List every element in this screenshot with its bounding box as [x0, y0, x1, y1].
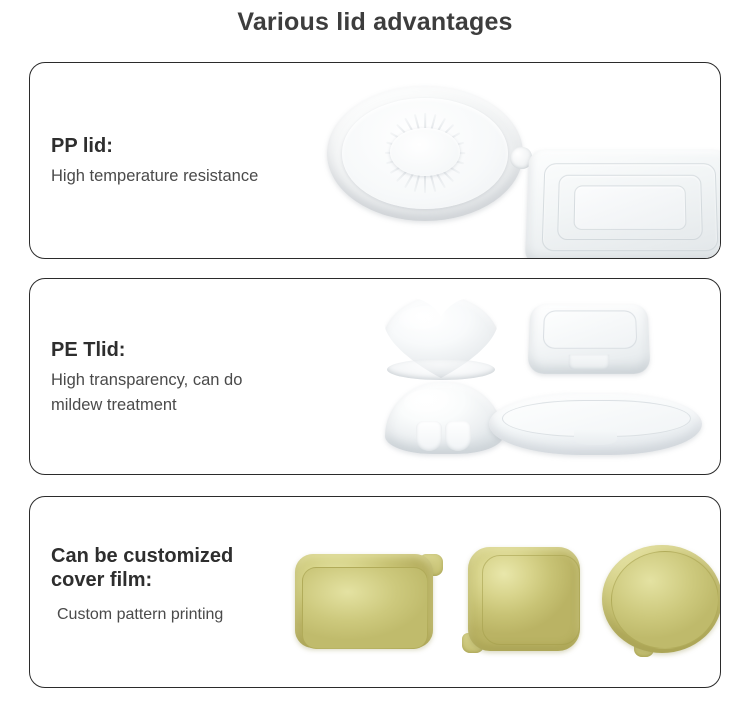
lid-notch	[568, 354, 610, 370]
gold-rectangular-foil-cover-image	[295, 548, 443, 648]
round-ribbed-pp-lid-image	[327, 86, 523, 221]
cover-film-text-block: Can be customized cover film: Custom pat…	[51, 545, 233, 628]
pp-lid-description: High temperature resistance	[51, 164, 258, 190]
pp-lid-text-block: PP lid: High temperature resistance	[51, 135, 258, 189]
lid-notch	[574, 430, 617, 445]
page-title: Various lid advantages	[0, 8, 750, 37]
pe-lid-title: PE Tlid:	[51, 339, 242, 363]
pe-lid-text-block: PE Tlid: High transparency, can do milde…	[51, 339, 242, 419]
oval-flat-pe-lid-image	[489, 393, 702, 455]
lid-top-face	[543, 311, 637, 349]
square-dome-pe-lid-image	[529, 302, 649, 374]
round-dome-pe-lid-image	[385, 382, 503, 454]
lid-highlight	[399, 306, 453, 334]
rectangular-pp-lid-image	[527, 148, 721, 259]
lid-body	[527, 304, 650, 374]
foil-inner-panel	[302, 567, 428, 649]
lid-lip	[387, 359, 496, 380]
lid-highlight	[404, 389, 456, 416]
pp-lid-title: PP lid:	[51, 135, 258, 159]
foil-inner-panel	[611, 551, 719, 649]
panel-pp-lid: PP lid: High temperature resistance	[29, 62, 721, 259]
lid-body	[525, 150, 721, 259]
heart-shaped-pe-lid-image	[382, 296, 500, 378]
foil-body	[468, 547, 580, 651]
lid-ridge-inner	[573, 186, 686, 230]
foil-body	[295, 554, 433, 648]
panel-cover-film: Can be customized cover film: Custom pat…	[29, 496, 721, 688]
gold-square-foil-cover-image	[462, 547, 588, 663]
lid-facet-right	[445, 421, 471, 451]
pe-lid-description: High transparency, can do mildew treatme…	[51, 368, 242, 419]
foil-inner-panel	[482, 555, 580, 645]
lid-facet-left	[416, 421, 442, 451]
gold-round-foil-cover-image	[600, 545, 721, 667]
cover-film-title: Can be customized cover film:	[51, 545, 233, 592]
cover-film-description: Custom pattern printing	[51, 597, 233, 628]
foil-body	[602, 545, 721, 653]
